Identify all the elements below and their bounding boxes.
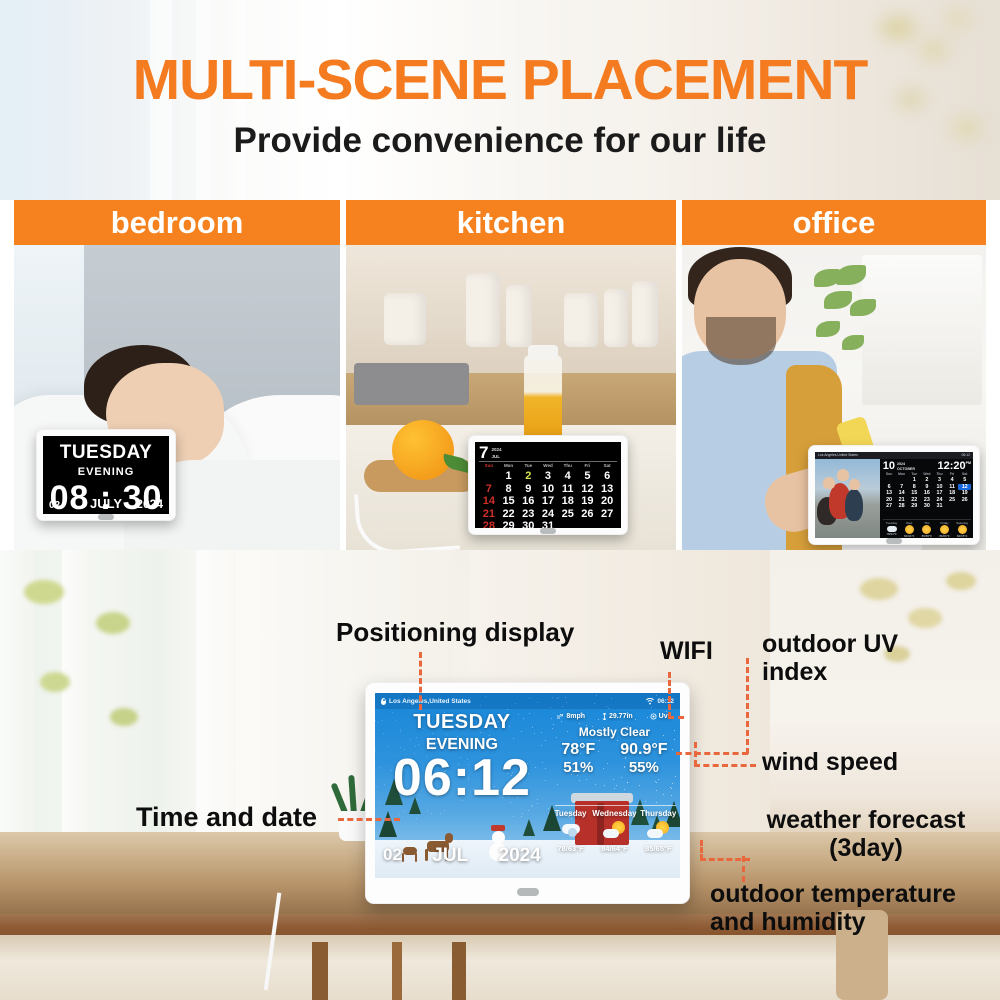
hero-power-button[interactable] <box>517 888 539 896</box>
clock-part-of-day: EVENING <box>43 466 169 478</box>
office-day[interactable]: 30 <box>921 503 934 510</box>
hero-date-row: 02 JUL 2024 <box>375 845 549 867</box>
calendar-dow: Fri <box>578 463 598 469</box>
calendar-dow: Wed <box>538 463 558 469</box>
office-dow: Tue <box>908 472 921 476</box>
callout-wifi: WIFI <box>660 637 713 665</box>
hero-day: TUESDAY <box>375 711 549 734</box>
office-day[interactable] <box>946 503 959 510</box>
office-forecast-temp: 84/65°F <box>953 534 971 538</box>
callout-leader-wifi-h <box>668 716 684 719</box>
sun-cloud-icon <box>592 818 636 844</box>
sun-icon <box>905 525 914 534</box>
callout-leader-temp-v <box>742 856 745 882</box>
device-power-button[interactable] <box>98 514 114 520</box>
office-forecast-temp: 85/65°F <box>918 534 936 538</box>
hero-date-month: JUL <box>432 845 468 867</box>
callout-weather-forecast: weather forecast (3day) <box>746 806 986 862</box>
office-day[interactable]: 28 <box>895 503 908 510</box>
sun-icon <box>940 525 949 534</box>
office-day[interactable]: 22 <box>908 497 921 504</box>
hero-time: 06:12 <box>375 752 549 804</box>
calendar-day[interactable]: 24 <box>538 508 558 521</box>
sun-icon <box>922 525 931 534</box>
device-office-display: Los Angeles,United States 06:12 <box>808 445 980 545</box>
hero-date-day: 02 <box>383 845 402 867</box>
snow-cloud-icon <box>549 818 592 844</box>
calendar-day[interactable]: 22 <box>499 508 519 521</box>
calendar-day[interactable]: 3 <box>538 470 558 483</box>
hero-forecast-day: Tuesday <box>549 809 592 818</box>
hero-forecast-item: Thursday85/65°F <box>637 809 680 853</box>
scene-panel-kitchen: kitchen <box>346 200 676 550</box>
office-day[interactable]: 24 <box>933 497 946 504</box>
calendar-day[interactable]: 8 <box>499 483 519 496</box>
callout-positioning-display: Positioning display <box>336 618 574 647</box>
callout-leader-wifi-v <box>668 672 671 718</box>
hero-reading-outdoor: 78°F 51% <box>561 741 595 776</box>
office-month: OCTOBER <box>895 466 915 471</box>
page-title: MULTI-SCENE PLACEMENT <box>0 47 1000 113</box>
callout-outdoor-uv-index: outdoor UV index <box>762 630 898 686</box>
calendar-day[interactable]: 18 <box>558 495 578 508</box>
scene-photo-kitchen: 7 2024 JUL SunMonTueWedThuFriSat 1234567… <box>346 245 676 550</box>
hero-forecast-row: Tuesday78/63°FWednesday84/64°FThursday85… <box>549 809 680 853</box>
callout-leader-uv-v <box>746 658 749 754</box>
office-day[interactable]: 26 <box>958 497 971 504</box>
office-day[interactable]: 25 <box>946 497 959 504</box>
calendar-dow: Mon <box>499 463 519 469</box>
callout-leader-uv-h <box>676 752 748 755</box>
uv-icon <box>650 713 657 720</box>
calendar-day[interactable]: 26 <box>578 508 598 521</box>
callout-leader-wind-v <box>694 742 697 766</box>
calendar-day[interactable]: 14 <box>479 495 499 508</box>
calendar-day[interactable]: 5 <box>578 470 598 483</box>
office-location: Los Angeles,United States <box>818 453 858 457</box>
office-big-number: 10 <box>883 461 895 471</box>
calendar-day[interactable]: 16 <box>518 495 538 508</box>
office-day[interactable] <box>895 477 908 484</box>
office-day[interactable]: 18 <box>946 490 959 497</box>
office-day[interactable]: 4 <box>946 477 959 484</box>
calendar-year: 2024 <box>491 445 501 452</box>
office-day[interactable]: 3 <box>933 477 946 484</box>
wind-icon <box>557 714 564 720</box>
office-day[interactable]: 21 <box>895 497 908 504</box>
office-day[interactable]: 16 <box>921 490 934 497</box>
hero-screen: Los Angeles,United States 06:12 TUESDAY … <box>375 693 680 878</box>
calendar-day[interactable]: 11 <box>558 483 578 496</box>
hero-pressure: 29.77in <box>602 713 633 720</box>
callout-wind-speed: wind speed <box>762 748 898 776</box>
office-dow: Wed <box>921 472 934 476</box>
calendar-day[interactable]: 21 <box>479 508 499 521</box>
office-clock: 12:20 <box>937 461 965 471</box>
clock-date-year: 2024 <box>136 497 163 511</box>
office-day[interactable]: 8 <box>908 484 921 491</box>
hero-weather-block: 8mph 29.77in Uv1 <box>549 713 680 776</box>
callout-outdoor-temp-humidity: outdoor temperature and humidity <box>710 880 956 936</box>
calendar-day[interactable]: 17 <box>538 495 558 508</box>
calendar-day[interactable]: 4 <box>558 470 578 483</box>
hero-readings: 78°F 51% 90.9°F 55% <box>549 741 680 776</box>
calendar-day[interactable]: 9 <box>518 483 538 496</box>
scene-label-kitchen: kitchen <box>346 200 676 245</box>
callout-leader-timedate-h <box>338 818 400 821</box>
sun-icon <box>958 525 967 534</box>
calendar-day[interactable]: 1 <box>499 470 519 483</box>
calendar-day[interactable]: 27 <box>597 508 617 521</box>
office-forecast-item: Thu85/65°F <box>918 521 936 538</box>
calendar-day[interactable]: 29 <box>499 520 519 528</box>
scene-label-office: office <box>682 200 986 245</box>
office-day[interactable]: 1 <box>908 477 921 484</box>
office-forecast-item: Friday86/66°F <box>936 521 954 538</box>
device-power-button[interactable] <box>886 538 902 544</box>
office-dow: Thu <box>933 472 946 476</box>
hero-forecast-day: Wednesday <box>592 809 636 818</box>
clock-day: TUESDAY <box>43 442 169 464</box>
office-forecast-day: Wed <box>900 521 918 525</box>
office-day[interactable]: 2 <box>921 477 934 484</box>
device-bedroom-clock: TUESDAY EVENING 08 : 30 02 JULY 2024 <box>36 429 176 521</box>
calendar-dow: Tue <box>518 463 538 469</box>
office-day[interactable]: 9 <box>921 484 934 491</box>
office-dow-row: SunMonTueWedThuFriSat <box>883 472 971 476</box>
calendar-day[interactable]: 10 <box>538 483 558 496</box>
office-day[interactable]: 20 <box>883 497 896 504</box>
calendar-dow-row: SunMonTueWedThuFriSat <box>479 463 617 469</box>
callout-time-and-date: Time and date <box>136 802 317 832</box>
office-day[interactable]: 29 <box>908 503 921 510</box>
callout-leader-forecast-v <box>700 840 703 860</box>
calendar-day[interactable]: 28 <box>479 520 499 528</box>
office-day[interactable]: 13 <box>883 490 896 497</box>
calendar-day[interactable]: 6 <box>597 470 617 483</box>
calendar-day[interactable]: 13 <box>597 483 617 496</box>
office-day[interactable]: 6 <box>883 484 896 491</box>
hero-wind: 8mph <box>557 713 585 720</box>
scene-panel-office: office <box>682 200 986 550</box>
wifi-icon <box>646 698 654 705</box>
hero-location: Los Angeles,United States <box>381 698 471 705</box>
calendar-day[interactable]: 31 <box>538 520 558 528</box>
calendar-day[interactable]: 25 <box>558 508 578 521</box>
sun-cloud-icon <box>637 818 680 844</box>
office-day[interactable]: 5 <box>958 477 971 484</box>
scene-panel-bedroom: bedroom TUESDAY EVENING <box>14 200 340 550</box>
office-dow: Mon <box>895 472 908 476</box>
office-day[interactable] <box>883 477 896 484</box>
office-day[interactable]: 14 <box>895 490 908 497</box>
calendar-day-grid: 1234567891011121314151617181920212223242… <box>479 470 617 528</box>
calendar-month: JUL <box>491 452 501 459</box>
office-forecast-temp: 86/66°F <box>936 534 954 538</box>
office-day[interactable]: 19 <box>958 490 971 497</box>
hero-date-year: 2024 <box>499 845 541 867</box>
scene-panels: bedroom TUESDAY EVENING <box>0 200 1000 550</box>
office-forecast-day: Thu <box>918 521 936 525</box>
scene-photo-office: Los Angeles,United States 06:12 <box>682 245 986 550</box>
product-infographic: MULTI-SCENE PLACEMENT Provide convenienc… <box>0 0 1000 1000</box>
office-forecast-item: Tuesday78/63°F <box>883 521 901 538</box>
calendar-day[interactable]: 23 <box>518 508 538 521</box>
office-day[interactable] <box>958 503 971 510</box>
calendar-day[interactable]: 19 <box>578 495 598 508</box>
office-forecast-day: Saturday <box>953 521 971 525</box>
scene-photo-bedroom: TUESDAY EVENING 08 : 30 02 JULY 2024 <box>14 245 340 550</box>
hero-status-time: 06:12 <box>657 698 674 705</box>
calendar-day[interactable] <box>479 470 499 483</box>
office-photo-frame <box>815 459 880 538</box>
office-status-time: 06:12 <box>962 453 971 457</box>
office-forecast-day: Tuesday <box>883 521 901 525</box>
office-dow: Fri <box>946 472 959 476</box>
calendar-day[interactable]: 20 <box>597 495 617 508</box>
calendar-dow: Sun <box>479 463 499 469</box>
calendar-day[interactable]: 15 <box>499 495 519 508</box>
office-day[interactable]: 12 <box>958 484 971 491</box>
hero-forecast-temp: 85/65°F <box>637 844 680 853</box>
office-dow: Sun <box>883 472 896 476</box>
office-day[interactable]: 31 <box>933 503 946 510</box>
device-power-button[interactable] <box>540 528 556 534</box>
scene-label-bedroom: bedroom <box>14 200 340 245</box>
hero-forecast-item: Tuesday78/63°F <box>549 809 592 853</box>
callout-leader-wind-h <box>694 764 756 767</box>
calendar-day[interactable] <box>578 520 598 528</box>
calendar-day[interactable] <box>558 520 578 528</box>
calendar-dow: Thu <box>558 463 578 469</box>
callout-leader-positioning <box>419 652 422 710</box>
page-subtitle: Provide convenience for our life <box>0 121 1000 161</box>
office-forecast-row: Tuesday78/63°FWed84/64°FThu85/65°FFriday… <box>883 519 971 538</box>
device-kitchen-calendar: 7 2024 JUL SunMonTueWedThuFriSat 1234567… <box>468 435 628 535</box>
hero-condition: Mostly Clear <box>549 725 680 739</box>
office-day[interactable]: 7 <box>895 484 908 491</box>
calendar-dow: Sat <box>597 463 617 469</box>
calendar-day[interactable]: 7 <box>479 483 499 496</box>
hero-forecast-item: Wednesday84/64°F <box>592 809 636 853</box>
hero-reading-indoor: 90.9°F 55% <box>620 741 667 776</box>
barometer-icon <box>602 713 607 720</box>
calendar-day[interactable]: 30 <box>518 520 538 528</box>
office-dow: Sat <box>958 472 971 476</box>
office-day[interactable]: 17 <box>933 490 946 497</box>
hero-forecast-temp: 78/63°F <box>549 844 592 853</box>
office-ampm: PM <box>966 461 971 465</box>
calendar-day[interactable] <box>597 520 617 528</box>
hero-forecast-day: Thursday <box>637 809 680 818</box>
hero-weather-stats: 8mph 29.77in Uv1 <box>549 713 680 720</box>
office-forecast-item: Saturday84/65°F <box>953 521 971 538</box>
hero-power-cord <box>264 893 391 1000</box>
office-forecast-temp: 84/64°F <box>900 534 918 538</box>
office-day[interactable]: 23 <box>921 497 934 504</box>
office-forecast-day: Friday <box>936 521 954 525</box>
office-day[interactable]: 27 <box>883 503 896 510</box>
office-forecast-temp: 78/63°F <box>883 532 901 536</box>
hero-clock-block: TUESDAY EVENING 06:12 <box>375 711 549 804</box>
map-pin-icon <box>381 698 386 705</box>
office-day[interactable]: 10 <box>933 484 946 491</box>
calendar-big-number: 7 <box>479 445 488 460</box>
calendar-day[interactable]: 2 <box>518 470 538 483</box>
calendar-day[interactable]: 12 <box>578 483 598 496</box>
hero-device: Los Angeles,United States 06:12 TUESDAY … <box>365 682 690 904</box>
office-forecast-item: Wed84/64°F <box>900 521 918 538</box>
office-day-grid: 1234567891011121314151617181920212223242… <box>883 477 971 510</box>
office-day[interactable]: 11 <box>946 484 959 491</box>
hero-forecast-temp: 84/64°F <box>592 844 636 853</box>
office-day[interactable]: 15 <box>908 490 921 497</box>
